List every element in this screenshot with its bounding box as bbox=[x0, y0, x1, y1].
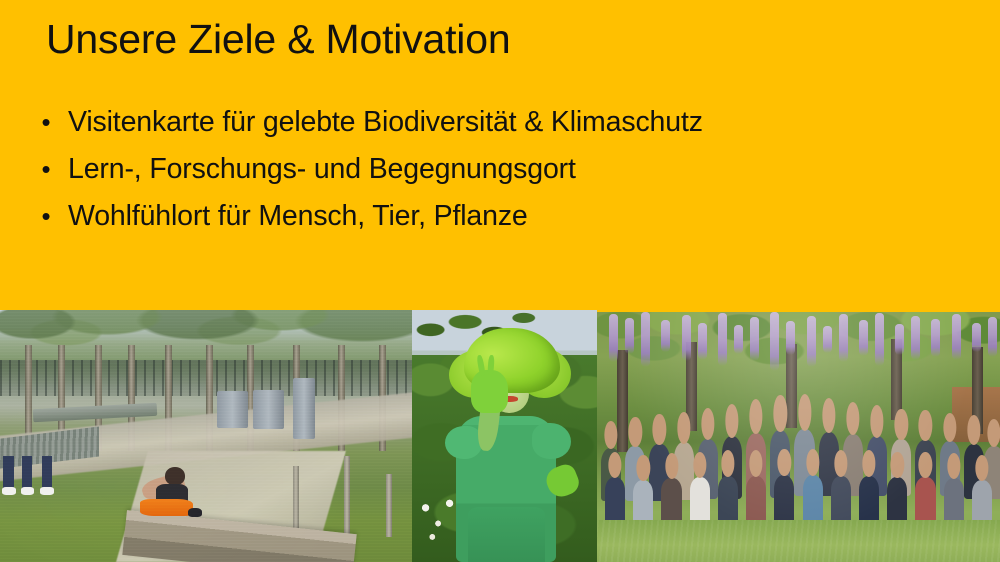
bullet-text: Lern-, Forschungs- und Begegnungsgort bbox=[68, 150, 576, 188]
slide-title: Unsere Ziele & Motivation bbox=[46, 16, 510, 63]
orchard-park-bench-photo: Parkanlage mit Obstbäumen, Kieswegen und… bbox=[0, 310, 412, 562]
presentation-slide: Unsere Ziele & Motivation • Visitenkarte… bbox=[0, 0, 1000, 562]
slide-text-area: Unsere Ziele & Motivation • Visitenkarte… bbox=[0, 0, 1000, 312]
performer-legs bbox=[468, 507, 546, 562]
performer-sleeve-right bbox=[532, 423, 571, 458]
group-photo-under-wisteria: Großes Gruppenfoto vieler Menschen unter… bbox=[597, 312, 1000, 562]
bullet-text: Wohlfühlort für Mensch, Tier, Pflanze bbox=[68, 197, 528, 235]
photo-grain bbox=[0, 310, 412, 562]
photo-softlight bbox=[597, 312, 1000, 562]
performer-sleeve-left bbox=[445, 426, 482, 459]
bullet-item: • Wohlfühlort für Mensch, Tier, Pflanze bbox=[24, 197, 924, 235]
bullet-point-icon: • bbox=[24, 197, 68, 235]
photo-strip: Parkanlage mit Obstbäumen, Kieswegen und… bbox=[0, 310, 1000, 562]
bullet-item: • Visitenkarte für gelebte Biodiversität… bbox=[24, 103, 924, 141]
bullet-list: • Visitenkarte für gelebte Biodiversität… bbox=[24, 103, 924, 244]
bullet-point-icon: • bbox=[24, 103, 68, 141]
bullet-item: • Lern-, Forschungs- und Begegnungsgort bbox=[24, 150, 924, 188]
green-costume-performer-photo: Performerin komplett in Grün gekleidet m… bbox=[412, 310, 597, 562]
bullet-text: Visitenkarte für gelebte Biodiversität &… bbox=[68, 103, 703, 141]
bullet-point-icon: • bbox=[24, 150, 68, 188]
green-glove-raised bbox=[471, 370, 508, 413]
